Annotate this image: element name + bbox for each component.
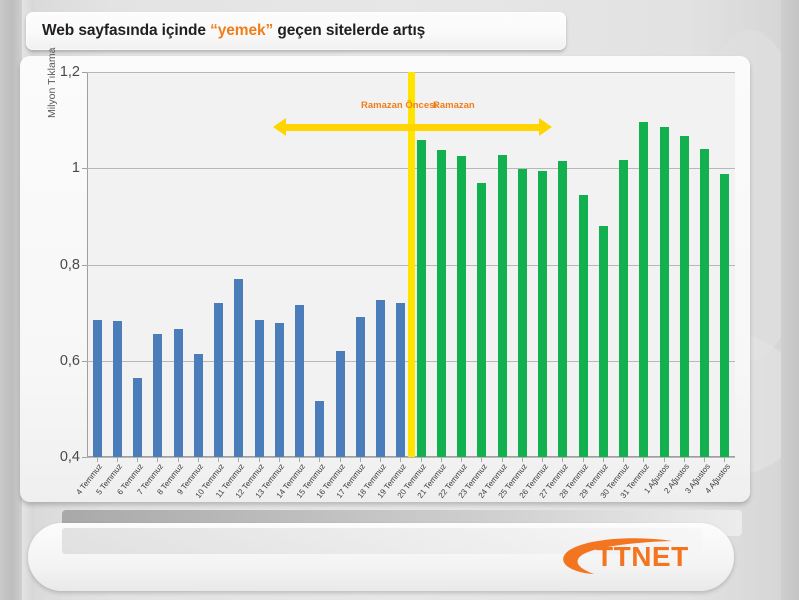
bar-slot xyxy=(87,72,107,457)
bar-slot xyxy=(573,72,593,457)
bar[interactable] xyxy=(275,323,284,457)
bar-slot xyxy=(634,72,654,457)
bar[interactable] xyxy=(599,226,608,457)
bar[interactable] xyxy=(538,171,547,457)
bar-slot xyxy=(654,72,674,457)
period-label-before: Ramazan Öncesi xyxy=(361,100,437,111)
title-suffix: geçen sitelerde artış xyxy=(273,22,425,39)
bar-slot xyxy=(715,72,735,457)
bar[interactable] xyxy=(700,149,709,457)
y-axis-title: Milyon Tıklama xyxy=(46,48,58,118)
bar[interactable] xyxy=(174,329,183,457)
bar[interactable] xyxy=(315,401,324,457)
bar[interactable] xyxy=(133,378,142,457)
bar[interactable] xyxy=(234,279,243,457)
bar[interactable] xyxy=(579,195,588,457)
x-label-slot: 4 Ağustos xyxy=(715,460,735,502)
bar[interactable] xyxy=(720,174,729,457)
chart-card: Milyon Tıklama %50 artış 0,40,60,811,2 4… xyxy=(20,56,750,502)
bar-slot xyxy=(209,72,229,457)
bar[interactable] xyxy=(498,155,507,457)
bar-slot xyxy=(229,72,249,457)
bar-slot xyxy=(168,72,188,457)
bar-slot xyxy=(593,72,613,457)
bar-slot xyxy=(249,72,269,457)
bar[interactable] xyxy=(680,136,689,457)
y-axis-tick-label: 1,2 xyxy=(60,64,80,80)
bar[interactable] xyxy=(417,140,426,457)
bar-slot xyxy=(188,72,208,457)
title-banner: Web sayfasında içinde “yemek” geçen site… xyxy=(26,12,566,50)
arrow-head-right-icon xyxy=(539,118,552,136)
y-axis-tick-label: 0,4 xyxy=(60,449,80,465)
page-title: Web sayfasında içinde “yemek” geçen site… xyxy=(26,22,425,40)
y-axis-tick-label: 1 xyxy=(72,160,80,176)
bar[interactable] xyxy=(558,161,567,457)
bar[interactable] xyxy=(113,321,122,457)
bar-slot xyxy=(553,72,573,457)
period-arrow-annotation xyxy=(273,116,552,138)
y-axis-tick-label: 0,6 xyxy=(60,353,80,369)
bar[interactable] xyxy=(639,122,648,457)
footer-bar: TTNET xyxy=(28,523,734,591)
bar[interactable] xyxy=(255,320,264,457)
bar-slot xyxy=(614,72,634,457)
bar[interactable] xyxy=(194,354,203,457)
x-axis-labels: 4 Temmuz5 Temmuz6 Temmuz7 Temmuz8 Temmuz… xyxy=(87,460,735,502)
bar[interactable] xyxy=(356,317,365,457)
bar[interactable] xyxy=(477,183,486,457)
logo-text: TTNET xyxy=(596,541,689,573)
background-right-strip xyxy=(781,0,799,600)
bar-slot xyxy=(695,72,715,457)
title-accent-word: “yemek” xyxy=(210,22,273,39)
bar[interactable] xyxy=(153,334,162,457)
bar[interactable] xyxy=(295,305,304,457)
bar-slot xyxy=(674,72,694,457)
arrow-bar-before xyxy=(285,124,411,131)
arrow-bar-during xyxy=(411,124,540,131)
background-left-strip xyxy=(0,0,22,600)
bar-slot xyxy=(107,72,127,457)
bar[interactable] xyxy=(518,169,527,457)
period-label-during: Ramazan xyxy=(433,100,475,111)
bar[interactable] xyxy=(619,160,628,457)
y-axis-tick-label: 0,8 xyxy=(60,257,80,273)
bar[interactable] xyxy=(457,156,466,457)
bar[interactable] xyxy=(336,351,345,457)
bar[interactable] xyxy=(396,303,405,457)
bar[interactable] xyxy=(214,303,223,457)
bar-slot xyxy=(128,72,148,457)
title-prefix: Web sayfasında içinde xyxy=(42,22,210,39)
bar[interactable] xyxy=(376,300,385,457)
bar[interactable] xyxy=(660,127,669,457)
bar[interactable] xyxy=(93,320,102,457)
bar[interactable] xyxy=(437,150,446,457)
bar-slot xyxy=(148,72,168,457)
ttnet-logo: TTNET xyxy=(560,537,708,579)
